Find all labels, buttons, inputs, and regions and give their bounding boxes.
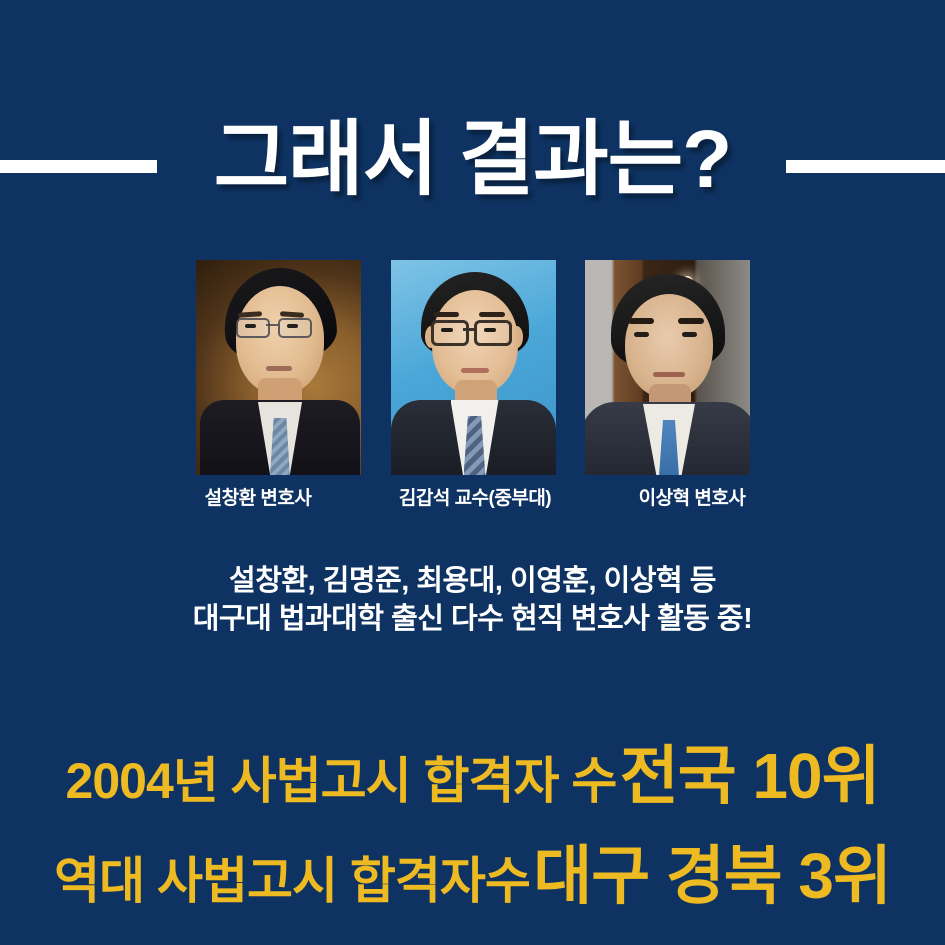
- body-paragraph: 설창환, 김명준, 최용대, 이영훈, 이상혁 등 대구대 법과대학 출신 다수…: [0, 562, 945, 638]
- portrait-photo-3: [585, 260, 750, 475]
- portrait-caption-1: 설창환 변호사: [150, 484, 366, 514]
- statistic-lead-2: 역대 사법고시 합격자수: [54, 853, 530, 909]
- portrait-caption-3: 이상혁 변호사: [584, 484, 800, 514]
- portrait-caption-2: 김갑석 교수(중부대): [367, 484, 583, 514]
- body-line-2: 대구대 법과대학 출신 다수 현직 변호사 활동 중!: [0, 600, 945, 638]
- statistic-row-1: 2004년 사법고시 합격자 수 전국 10위: [0, 735, 945, 835]
- portrait-illustration-2: [391, 260, 556, 475]
- statistic-row-2: 역대 사법고시 합격자수 대구 경북 3위: [0, 835, 945, 935]
- portrait-illustration-3: [585, 260, 750, 475]
- portrait-gallery: [196, 260, 750, 475]
- page-title: 그래서 결과는?: [0, 100, 945, 220]
- portrait-caption-row: 설창환 변호사 김갑석 교수(중부대) 이상혁 변호사: [150, 484, 800, 514]
- card-news-slide: 그래서 결과는?: [0, 0, 945, 945]
- statistic-highlight-1: 전국 10위: [620, 740, 880, 812]
- portrait-illustration-1: [196, 260, 361, 475]
- body-line-1: 설창환, 김명준, 최용대, 이영훈, 이상혁 등: [0, 562, 945, 600]
- statistics-block: 2004년 사법고시 합격자 수 전국 10위 역대 사법고시 합격자수 대구 …: [0, 735, 945, 935]
- portrait-photo-1: [196, 260, 361, 475]
- statistic-lead-1: 2004년 사법고시 합격자 수: [66, 753, 617, 809]
- portrait-photo-2: [391, 260, 556, 475]
- title-band: 그래서 결과는?: [0, 100, 945, 220]
- statistic-highlight-2: 대구 경북 3위: [533, 840, 891, 912]
